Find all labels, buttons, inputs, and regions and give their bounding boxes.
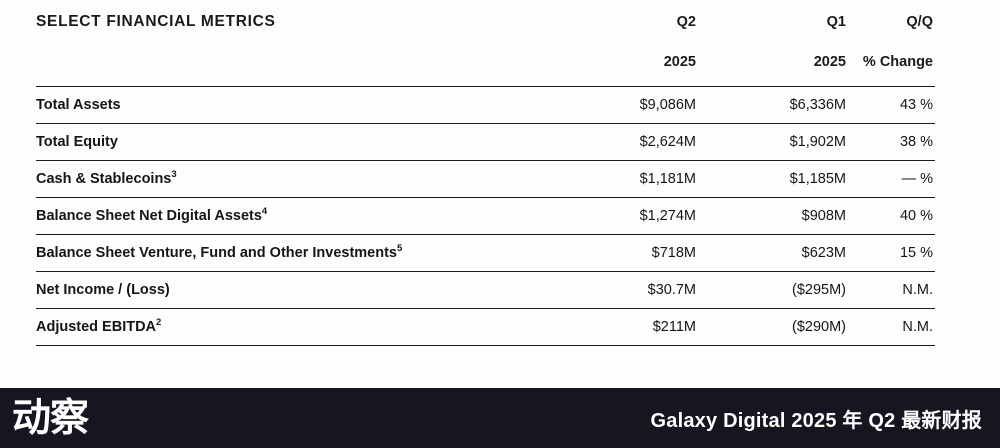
financial-metrics-table: SELECT FINANCIAL METRICS Q2 Q1 Q/Q 2025 …	[36, 0, 935, 346]
financial-metrics-slide: SELECT FINANCIAL METRICS Q2 Q1 Q/Q 2025 …	[0, 0, 1000, 388]
column-header-label-line2	[36, 44, 556, 87]
row-label: Cash & Stablecoins3	[36, 161, 556, 198]
table-row: Net Income / (Loss)$30.7M($295M)N.M.	[36, 272, 935, 309]
cell-q2: $9,086M	[556, 87, 696, 124]
table-header-row-1: SELECT FINANCIAL METRICS Q2 Q1 Q/Q	[36, 0, 935, 44]
column-header-qq-line2: % Change	[846, 44, 935, 87]
cell-qq-change: 40 %	[846, 198, 935, 235]
page-title: SELECT FINANCIAL METRICS	[36, 0, 556, 44]
cell-q1: ($295M)	[696, 272, 846, 309]
slide-content: SELECT FINANCIAL METRICS Q2 Q1 Q/Q 2025 …	[36, 0, 935, 388]
cell-q1: $6,336M	[696, 87, 846, 124]
footnote-marker: 3	[171, 169, 176, 180]
cell-qq-change: 15 %	[846, 235, 935, 272]
table-row: Balance Sheet Net Digital Assets4$1,274M…	[36, 198, 935, 235]
table-header: SELECT FINANCIAL METRICS Q2 Q1 Q/Q 2025 …	[36, 0, 935, 87]
table-row: Cash & Stablecoins3$1,181M$1,185M— %	[36, 161, 935, 198]
footer-caption: Galaxy Digital 2025 年 Q2 最新财报	[651, 404, 982, 433]
cell-q2: $1,181M	[556, 161, 696, 198]
column-header-qq-line1: Q/Q	[846, 0, 935, 44]
row-label: Total Assets	[36, 87, 556, 124]
footnote-marker: 4	[262, 206, 267, 217]
row-label: Net Income / (Loss)	[36, 272, 556, 309]
footnote-marker: 5	[397, 243, 402, 254]
row-label: Balance Sheet Venture, Fund and Other In…	[36, 235, 556, 272]
footer-bar: 动察 Galaxy Digital 2025 年 Q2 最新财报	[0, 388, 1000, 448]
row-label: Total Equity	[36, 124, 556, 161]
cell-q2: $718M	[556, 235, 696, 272]
cell-q2: $2,624M	[556, 124, 696, 161]
footnote-marker: 2	[156, 317, 161, 328]
row-label: Balance Sheet Net Digital Assets4	[36, 198, 556, 235]
column-header-q2-line1: Q2	[556, 0, 696, 44]
table-body: Total Assets$9,086M$6,336M43 %Total Equi…	[36, 87, 935, 346]
cell-qq-change: 43 %	[846, 87, 935, 124]
page-title-text: SELECT FINANCIAL METRICS	[36, 13, 276, 30]
table-row: Balance Sheet Venture, Fund and Other In…	[36, 235, 935, 272]
cell-q2: $30.7M	[556, 272, 696, 309]
cell-qq-change: 38 %	[846, 124, 935, 161]
brand-logo: 动察	[12, 399, 88, 438]
cell-qq-change: N.M.	[846, 272, 935, 309]
slide-screenshot: SELECT FINANCIAL METRICS Q2 Q1 Q/Q 2025 …	[0, 0, 1000, 448]
column-header-q1-line2: 2025	[696, 44, 846, 87]
cell-qq-change: — %	[846, 161, 935, 198]
cell-q1: ($290M)	[696, 309, 846, 346]
row-label: Adjusted EBITDA2	[36, 309, 556, 346]
cell-q2: $1,274M	[556, 198, 696, 235]
cell-q1: $623M	[696, 235, 846, 272]
cell-q2: $211M	[556, 309, 696, 346]
table-row: Total Equity$2,624M$1,902M38 %	[36, 124, 935, 161]
column-header-q2-line2: 2025	[556, 44, 696, 87]
table-row: Adjusted EBITDA2$211M($290M)N.M.	[36, 309, 935, 346]
cell-q1: $1,185M	[696, 161, 846, 198]
table-row: Total Assets$9,086M$6,336M43 %	[36, 87, 935, 124]
cell-qq-change: N.M.	[846, 309, 935, 346]
cell-q1: $908M	[696, 198, 846, 235]
column-header-q1-line1: Q1	[696, 0, 846, 44]
table-header-row-2: 2025 2025 % Change	[36, 44, 935, 87]
cell-q1: $1,902M	[696, 124, 846, 161]
